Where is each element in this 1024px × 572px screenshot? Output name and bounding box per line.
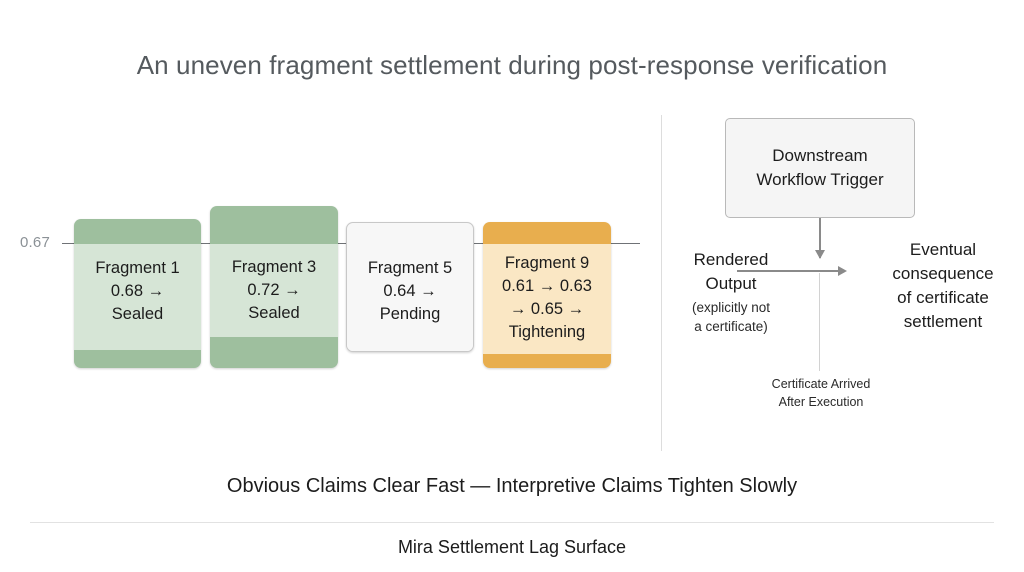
bar-label: Fragment 5 0.64 → Pending [347, 257, 473, 326]
chart-caption: Obvious Claims Clear Fast — Interpretive… [0, 475, 1024, 498]
bar-fragment-9[interactable]: Fragment 9 0.61 → 0.63 → 0.65 → Tighteni… [483, 222, 611, 368]
certificate-timeline-line [819, 273, 820, 371]
footer-divider [30, 522, 994, 523]
bar-label: Fragment 3 0.72 → Sealed [210, 256, 338, 325]
slide-canvas: An uneven fragment settlement during pos… [0, 0, 1024, 572]
bar-fragment-3[interactable]: Fragment 3 0.72 → Sealed [210, 206, 338, 368]
rendered-output-label: Rendered Output [651, 248, 811, 296]
eventual-consequence-label: Eventual consequence of certificate sett… [853, 238, 1024, 334]
footer-title: Mira Settlement Lag Surface [0, 537, 1024, 558]
rendered-output-group: Rendered Output (explicitly not a certif… [651, 248, 811, 336]
certificate-arrived-note: Certificate Arrived After Execution [721, 375, 921, 411]
rendered-output-note: (explicitly not a certificate) [651, 298, 811, 336]
bar-fragment-1[interactable]: Fragment 1 0.68 → Sealed [74, 219, 201, 368]
bar-label: Fragment 1 0.68 → Sealed [74, 257, 201, 326]
downstream-workflow-trigger-box[interactable]: Downstream Workflow Trigger [725, 118, 915, 218]
bar-label: Fragment 9 0.61 → 0.63 → 0.65 → Tighteni… [483, 252, 611, 344]
flow-diagram: Downstream Workflow Trigger Rendered Out… [661, 110, 1024, 450]
bar-fragment-5[interactable]: Fragment 5 0.64 → Pending [346, 222, 474, 352]
arrow-down-icon [819, 218, 821, 258]
